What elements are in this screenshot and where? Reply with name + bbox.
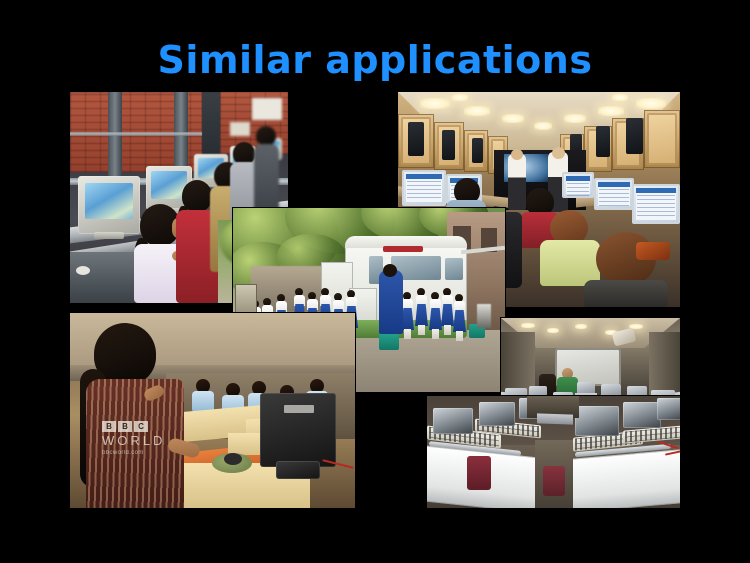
photo-bbc-classroom: B B C WORLD bbcworld.com (70, 313, 355, 508)
bbc-world-watermark: B B C WORLD bbcworld.com (102, 421, 222, 456)
bbc-letter-1: B (102, 421, 116, 432)
bbc-letter-2: B (118, 421, 132, 432)
bbc-letter-3: C (134, 421, 148, 432)
slide-canvas: Similar applications (0, 0, 750, 563)
bbc-logo-blocks: B B C (102, 421, 222, 432)
bbc-world-text: WORLD (102, 434, 222, 447)
bbc-world-url: bbcworld.com (102, 450, 222, 456)
photo-laptop-workstations (427, 396, 680, 508)
page-title: Similar applications (0, 40, 750, 82)
